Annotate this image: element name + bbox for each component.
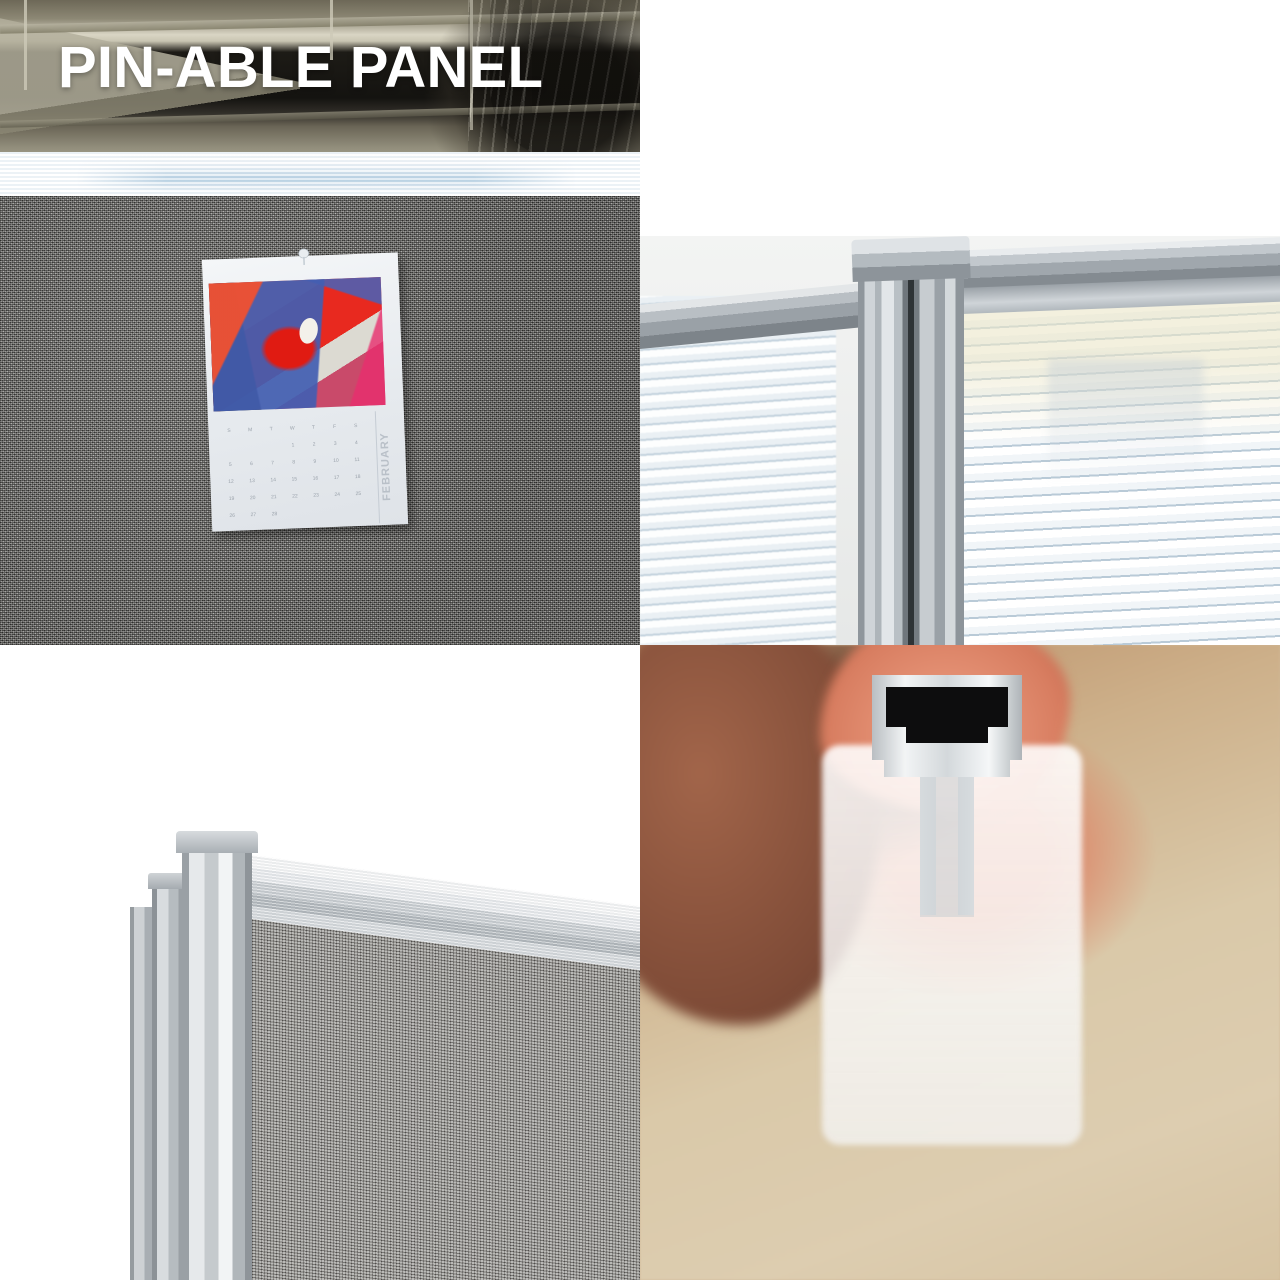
window-blinds-left bbox=[640, 296, 836, 645]
calendar-weekday: W bbox=[282, 420, 304, 438]
calendar-day: 23 bbox=[305, 487, 327, 505]
calendar-weekday: M bbox=[239, 422, 261, 440]
calendar-day: 11 bbox=[346, 452, 368, 470]
calendar-day: 15 bbox=[283, 471, 305, 489]
calendar-day: 9 bbox=[304, 453, 326, 471]
calendar-day: 17 bbox=[326, 469, 348, 487]
calendar-day: 28 bbox=[264, 506, 286, 524]
calendar-day: 21 bbox=[263, 489, 285, 507]
headline-pin-able-panel: PIN-ABLE PANEL bbox=[58, 38, 624, 98]
aluminum-connector-post bbox=[858, 246, 964, 645]
calendar-weekday: F bbox=[324, 418, 346, 436]
calendar-day: 27 bbox=[243, 507, 265, 525]
calendar-weekday: T bbox=[260, 421, 282, 439]
calendar-day: 18 bbox=[347, 469, 369, 487]
calendar-day: 22 bbox=[284, 488, 306, 506]
calendar-day: 7 bbox=[262, 455, 284, 473]
calendar-day: 26 bbox=[221, 507, 243, 525]
frame-post-middle bbox=[152, 881, 186, 1280]
calendar-day: 8 bbox=[283, 454, 305, 472]
aluminum-frame-photo bbox=[0, 645, 640, 1280]
calendar-day: 10 bbox=[325, 452, 347, 470]
calendar-day: 25 bbox=[348, 486, 370, 504]
calendar-day bbox=[327, 503, 349, 521]
panel-bottom-left: LIGHT AIRCRAFT ALUMINUM FRAME bbox=[0, 645, 640, 1280]
panel-bottom-right: TOOLLESS ASSEMBLY bbox=[640, 645, 1280, 1280]
panel-top-right: CUSTOMIZABLE CONFIGURATION bbox=[640, 0, 1280, 645]
calendar-day: 14 bbox=[262, 472, 284, 490]
calendar-day: 6 bbox=[241, 456, 263, 474]
configuration-photo bbox=[640, 236, 1280, 645]
calendar-grid: SMTWTFS123456789101112131415161718192021… bbox=[218, 418, 370, 520]
calendar-day: 3 bbox=[324, 435, 346, 453]
calendar-day: 19 bbox=[221, 490, 243, 508]
calendar-day: 1 bbox=[282, 437, 304, 455]
calendar-day bbox=[285, 505, 307, 523]
calendar-day: 2 bbox=[303, 436, 325, 454]
panel-top-left: SMTWTFS123456789101112131415161718192021… bbox=[0, 0, 640, 645]
panel-top-rail-texture bbox=[0, 152, 640, 200]
calendar-day: 20 bbox=[242, 490, 264, 508]
calendar-day bbox=[348, 503, 370, 521]
calendar-artwork bbox=[209, 277, 386, 412]
calendar-day: 4 bbox=[346, 435, 368, 453]
calendar-day bbox=[261, 438, 283, 456]
frame-corner-post bbox=[182, 840, 252, 1280]
calendar-day bbox=[240, 439, 262, 457]
calendar-day: 5 bbox=[219, 457, 241, 475]
feature-collage: SMTWTFS123456789101112131415161718192021… bbox=[0, 0, 1280, 1280]
ceiling-hanger bbox=[24, 0, 27, 90]
calendar-day: 13 bbox=[241, 473, 263, 491]
calendar-month-label: FEBRUARY bbox=[378, 414, 404, 519]
push-pin-icon bbox=[296, 248, 311, 267]
calendar-weekday: T bbox=[303, 419, 325, 437]
calendar-day: 12 bbox=[220, 474, 242, 492]
calendar-day bbox=[219, 440, 241, 458]
calendar-weekday: S bbox=[218, 423, 240, 441]
aluminum-extrusion-channel bbox=[862, 665, 1032, 925]
calendar-weekday: S bbox=[345, 418, 367, 436]
calendar-day bbox=[306, 504, 328, 522]
calendar-day: 16 bbox=[305, 470, 327, 488]
connector-post-cap bbox=[851, 236, 970, 282]
calendar-day: 24 bbox=[326, 486, 348, 504]
frame-corner-post-cap bbox=[176, 831, 258, 853]
window-blinds-right bbox=[958, 278, 1280, 645]
pinned-calendar: SMTWTFS123456789101112131415161718192021… bbox=[202, 252, 408, 531]
